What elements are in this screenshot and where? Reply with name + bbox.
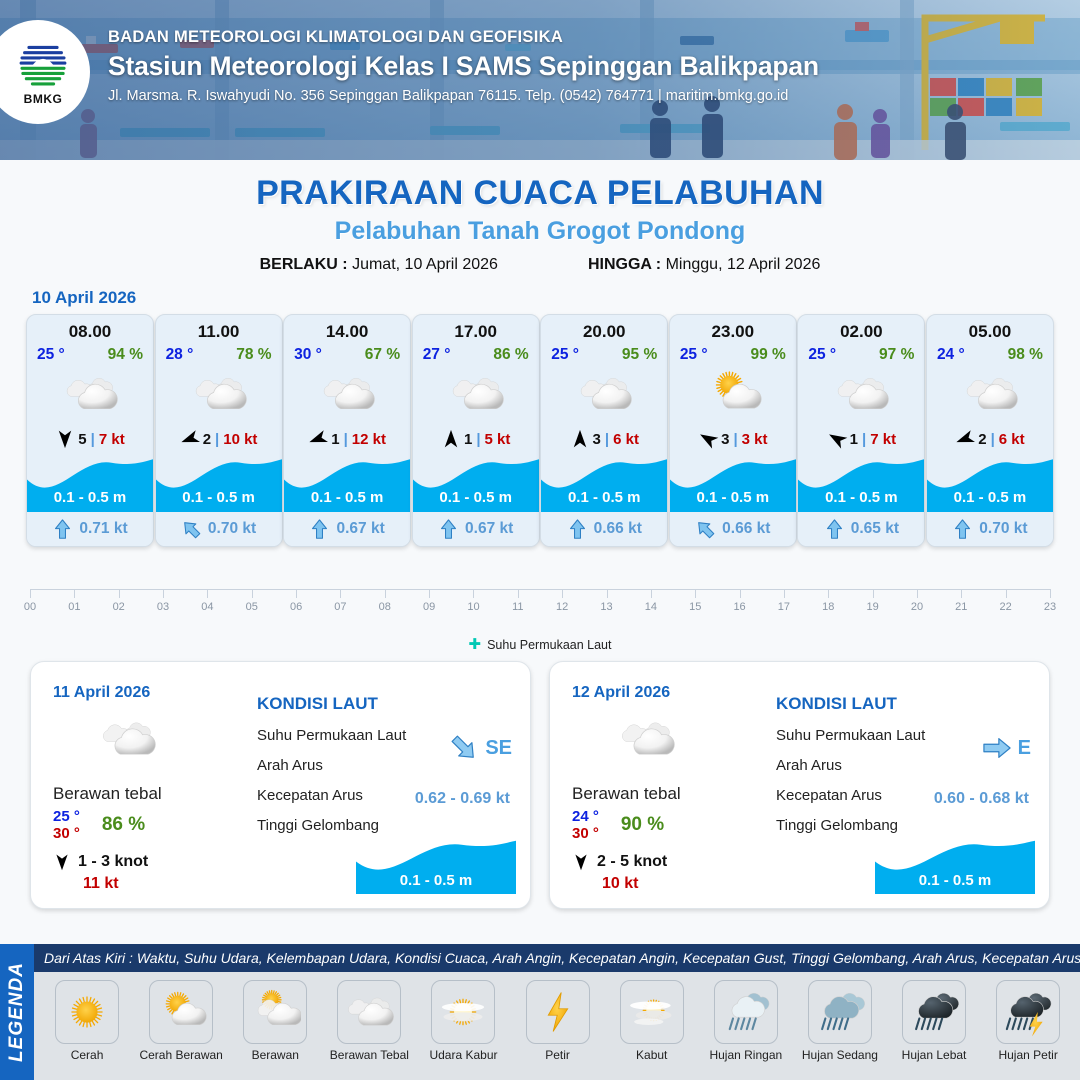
card-gust-speed: 5 kt	[485, 431, 511, 448]
card-wave-height: 0.1 - 0.5 m	[156, 489, 282, 506]
current-direction-arrow-icon	[309, 519, 330, 540]
axis-tick-label: 02	[113, 601, 125, 613]
axis-tick-label: 00	[24, 601, 36, 613]
panel-wave-height: 0.1 - 0.5 m	[356, 872, 516, 889]
forecast-card: 17.00 27 ° 86 %	[412, 314, 540, 547]
legend-item: Cerah	[41, 980, 133, 1062]
card-current-row: 0.70 kt	[927, 512, 1053, 546]
card-wave-height: 0.1 - 0.5 m	[541, 489, 667, 506]
legend-item-label: Hujan Petir	[982, 1048, 1074, 1062]
card-humidity: 97 %	[879, 346, 914, 364]
axis-tick-label: 08	[379, 601, 391, 613]
wind-direction-arrow-icon	[180, 429, 200, 449]
legend-side-bar: LEGENDA	[0, 944, 34, 1080]
card-wind-separator: |	[991, 431, 995, 448]
forecast-card: 11.00 28 ° 78 %	[155, 314, 283, 547]
card-wave-height: 0.1 - 0.5 m	[670, 489, 796, 506]
card-wind-separator: |	[91, 431, 95, 448]
card-humidity: 67 %	[365, 346, 400, 364]
legend-icon-cerah-berawan	[149, 980, 213, 1044]
current-direction-label: SE	[485, 737, 512, 760]
panel-left: 12 April 2026	[550, 662, 770, 908]
card-wind-speed: 3	[593, 431, 601, 448]
panel-temp-min: 25 °	[53, 808, 80, 825]
sea-row-wave-height: Tinggi Gelombang	[776, 817, 1031, 834]
axis-tick	[340, 589, 341, 598]
axis-tick	[1006, 589, 1007, 598]
card-time: 23.00	[670, 322, 796, 342]
card-current-speed: 0.67 kt	[336, 520, 384, 538]
axis-tick-label: 13	[600, 601, 612, 613]
axis-tick-label: 12	[556, 601, 568, 613]
legend-item: Berawan	[229, 980, 321, 1062]
card-wind-row: 2 | 10 kt	[156, 422, 282, 456]
card-weather-icon-cerah-berawan	[670, 366, 796, 422]
daily-forecast-panel: 12 April 2026	[549, 661, 1050, 909]
card-current-row: 0.71 kt	[27, 512, 153, 546]
axis-tick-label: 14	[645, 601, 657, 613]
card-wave-height: 0.1 - 0.5 m	[798, 489, 924, 506]
legend-item: Hujan Lebat	[888, 980, 980, 1062]
legend-body: Dari Atas Kiri : Waktu, Suhu Udara, Kele…	[34, 944, 1080, 1080]
forecast-card: 20.00 25 ° 95 %	[540, 314, 668, 547]
card-current-row: 0.67 kt	[413, 512, 539, 546]
panel-current-speed: 0.62 - 0.69 kt	[415, 790, 510, 808]
card-temp-humidity-row: 25 ° 95 %	[541, 342, 667, 364]
card-temperature: 25 °	[37, 346, 65, 364]
card-current-speed: 0.70 kt	[208, 520, 256, 538]
berlaku-group: BERLAKU : Jumat, 10 April 2026	[260, 256, 498, 274]
card-temp-humidity-row: 25 ° 99 %	[670, 342, 796, 364]
axis-tick-label: 22	[1000, 601, 1012, 613]
panel-date: 11 April 2026	[53, 684, 251, 702]
axis-tick	[30, 589, 31, 598]
card-temp-humidity-row: 25 ° 94 %	[27, 342, 153, 364]
panel-wave-height: 0.1 - 0.5 m	[875, 872, 1035, 889]
legend-item: Hujan Petir	[982, 980, 1074, 1062]
card-current-row: 0.65 kt	[798, 512, 924, 546]
panel-temp-column: 25 ° 30 °	[53, 808, 80, 843]
current-direction-arrow-icon	[952, 519, 973, 540]
card-temperature: 24 °	[937, 346, 965, 364]
chart-legend: ✚ Suhu Permukaan Laut	[30, 637, 1050, 652]
axis-tick	[828, 589, 829, 598]
legend-icon-hujan-sedang	[808, 980, 872, 1044]
card-wind-speed: 2	[203, 431, 211, 448]
panel-wind-row: 2 - 5 knot	[572, 853, 770, 871]
axis-tick-label: 21	[955, 601, 967, 613]
card-humidity: 86 %	[493, 346, 528, 364]
card-temp-humidity-row: 28 ° 78 %	[156, 342, 282, 364]
card-humidity: 98 %	[1008, 346, 1043, 364]
station-address: Jl. Marsma. R. Iswahyudi No. 356 Sepingg…	[108, 88, 988, 104]
card-current-row: 0.66 kt	[670, 512, 796, 546]
current-direction-arrow-icon	[567, 519, 588, 540]
card-temp-humidity-row: 27 ° 86 %	[413, 342, 539, 364]
card-temperature: 25 °	[551, 346, 579, 364]
axis-tick-label: 05	[246, 601, 258, 613]
card-wave-height: 0.1 - 0.5 m	[927, 489, 1053, 506]
panel-humidity: 90 %	[621, 814, 664, 836]
legend-item: Kabut	[606, 980, 698, 1062]
wind-direction-arrow-icon	[572, 853, 590, 871]
wind-direction-arrow-icon	[698, 429, 718, 449]
panel-temp-column: 24 ° 30 °	[572, 808, 599, 843]
legend-icon-berawan-tebal	[337, 980, 401, 1044]
card-wave-graphic: 0.1 - 0.5 m	[541, 456, 667, 512]
legend-item: Udara Kabur	[417, 980, 509, 1062]
card-wave-graphic: 0.1 - 0.5 m	[156, 456, 282, 512]
card-wave-height: 0.1 - 0.5 m	[27, 489, 153, 506]
current-direction-label: E	[1018, 737, 1031, 760]
card-weather-icon-berawan-tebal	[927, 366, 1053, 422]
legend-item-label: Hujan Sedang	[794, 1048, 886, 1062]
axis-tick	[873, 589, 874, 598]
hingga-label: HINGGA :	[588, 256, 661, 273]
panel-weather-icon-berawan-tebal	[53, 708, 251, 770]
card-weather-icon-berawan-tebal	[27, 366, 153, 422]
legend-icon-list: Cerah Cerah Berawan	[34, 972, 1080, 1062]
axis-tick	[518, 589, 519, 598]
axis-tick	[385, 589, 386, 598]
legend-section: LEGENDA Dari Atas Kiri : Waktu, Suhu Uda…	[0, 944, 1080, 1080]
axis-tick-label: 11	[512, 601, 523, 613]
panel-wind-range: 2 - 5 knot	[597, 853, 667, 871]
panel-wind-range: 1 - 3 knot	[78, 853, 148, 871]
panel-left: 11 April 2026	[31, 662, 251, 908]
axis-tick	[695, 589, 696, 598]
page-title: PRAKIRAAN CUACA PELABUHAN	[0, 174, 1080, 213]
wind-direction-arrow-icon	[441, 429, 461, 449]
card-current-row: 0.70 kt	[156, 512, 282, 546]
forecast-card: 02.00 25 ° 97 %	[797, 314, 925, 547]
card-current-speed: 0.65 kt	[851, 520, 899, 538]
card-wind-speed: 1	[850, 431, 858, 448]
legend-icon-udara-kabur	[431, 980, 495, 1044]
card-wave-height: 0.1 - 0.5 m	[413, 489, 539, 506]
panel-temp-humidity: 25 ° 30 ° 86 %	[53, 808, 251, 843]
card-wind-speed: 1	[464, 431, 472, 448]
card-weather-icon-berawan-tebal	[284, 366, 410, 422]
panel-wind-row: 1 - 3 knot	[53, 853, 251, 871]
current-direction-arrow-icon	[450, 736, 478, 760]
card-wind-row: 2 | 6 kt	[927, 422, 1053, 456]
legend-item-label: Hujan Lebat	[888, 1048, 980, 1062]
hingga-group: HINGGA : Minggu, 12 April 2026	[588, 256, 820, 274]
card-wave-graphic: 0.1 - 0.5 m	[413, 456, 539, 512]
legend-item: Cerah Berawan	[135, 980, 227, 1062]
card-temperature: 25 °	[680, 346, 708, 364]
wind-direction-arrow-icon	[570, 429, 590, 449]
card-temperature: 30 °	[294, 346, 322, 364]
card-humidity: 78 %	[236, 346, 271, 364]
card-humidity: 99 %	[750, 346, 785, 364]
axis-tick	[473, 589, 474, 598]
card-wind-row: 1 | 5 kt	[413, 422, 539, 456]
chart-legend-label: Suhu Permukaan Laut	[487, 638, 611, 652]
legend-icon-kabut	[620, 980, 684, 1044]
wind-direction-arrow-icon	[55, 429, 75, 449]
card-wind-separator: |	[605, 431, 609, 448]
card-wind-speed: 3	[721, 431, 729, 448]
wind-direction-arrow-icon	[53, 853, 71, 871]
wind-direction-arrow-icon	[955, 429, 975, 449]
panel-sea-conditions: KONDISI LAUT Suhu Permukaan Laut Arah Ar…	[770, 662, 1049, 908]
axis-tick	[207, 589, 208, 598]
forecast-card: 05.00 24 ° 98 %	[926, 314, 1054, 547]
panel-gust: 10 kt	[602, 875, 770, 893]
card-current-speed: 0.67 kt	[465, 520, 513, 538]
wind-direction-arrow-icon	[827, 429, 847, 449]
axis-tick	[917, 589, 918, 598]
card-wind-separator: |	[733, 431, 737, 448]
axis-tick	[296, 589, 297, 598]
berlaku-label: BERLAKU :	[260, 256, 348, 273]
panel-current-direction: E	[983, 736, 1031, 760]
legend-item-label: Udara Kabur	[417, 1048, 509, 1062]
panel-condition: Berawan tebal	[53, 784, 251, 804]
axis-tick-label: 06	[290, 601, 302, 613]
axis-tick	[607, 589, 608, 598]
card-weather-icon-berawan-tebal	[413, 366, 539, 422]
legend-icon-petir	[526, 980, 590, 1044]
axis-tick	[562, 589, 563, 598]
legend-icon-hujan-petir	[996, 980, 1060, 1044]
card-wind-row: 3 | 3 kt	[670, 422, 796, 456]
axis-tick-label: 17	[778, 601, 790, 613]
card-weather-icon-berawan-tebal	[156, 366, 282, 422]
panel-wave-graphic: 0.1 - 0.5 m	[356, 838, 516, 894]
legend-item: Berawan Tebal	[323, 980, 415, 1062]
card-wind-speed: 1	[331, 431, 339, 448]
card-gust-speed: 10 kt	[223, 431, 257, 448]
agency-name: BADAN METEOROLOGI KLIMATOLOGI DAN GEOFIS…	[108, 28, 988, 47]
axis-tick-label: 23	[1044, 601, 1056, 613]
legend-icon-berawan	[243, 980, 307, 1044]
card-time: 08.00	[27, 322, 153, 342]
card-temp-humidity-row: 24 ° 98 %	[927, 342, 1053, 364]
current-direction-arrow-icon	[695, 519, 716, 540]
hourly-forecast-row: 08.00 25 ° 94 %	[0, 314, 1080, 547]
page-header: BMKG BADAN METEOROLOGI KLIMATOLOGI DAN G…	[0, 0, 1080, 160]
panel-humidity: 86 %	[102, 814, 145, 836]
legend-description-bar: Dari Atas Kiri : Waktu, Suhu Udara, Kele…	[34, 944, 1080, 972]
sea-conditions-title: KONDISI LAUT	[257, 694, 512, 714]
card-gust-speed: 6 kt	[999, 431, 1025, 448]
legend-marker-icon: ✚	[469, 637, 482, 652]
legend-icon-hujan-lebat	[902, 980, 966, 1044]
axis-tick	[119, 589, 120, 598]
panel-temp-humidity: 24 ° 30 ° 90 %	[572, 808, 770, 843]
panel-current-direction: SE	[450, 736, 512, 760]
forecast-day-label: 10 April 2026	[32, 288, 1080, 308]
card-current-speed: 0.66 kt	[594, 520, 642, 538]
card-wave-height: 0.1 - 0.5 m	[284, 489, 410, 506]
sea-row-wave-height: Tinggi Gelombang	[257, 817, 512, 834]
card-wave-graphic: 0.1 - 0.5 m	[798, 456, 924, 512]
axis-tick	[74, 589, 75, 598]
panel-date: 12 April 2026	[572, 684, 770, 702]
axis-tick	[252, 589, 253, 598]
axis-tick	[163, 589, 164, 598]
bmkg-logo-text: BMKG	[24, 92, 63, 106]
card-time: 05.00	[927, 322, 1053, 342]
panel-temp-max: 30 °	[572, 825, 599, 842]
forecast-card: 23.00 25 ° 99 %	[669, 314, 797, 547]
daily-forecast-panel: 11 April 2026	[30, 661, 531, 909]
sea-conditions-title: KONDISI LAUT	[776, 694, 1031, 714]
panel-sea-conditions: KONDISI LAUT Suhu Permukaan Laut Arah Ar…	[251, 662, 530, 908]
axis-tick	[961, 589, 962, 598]
legend-item-label: Cerah	[41, 1048, 133, 1062]
panel-temp-min: 24 °	[572, 808, 599, 825]
card-weather-icon-berawan-tebal	[798, 366, 924, 422]
card-current-speed: 0.66 kt	[722, 520, 770, 538]
card-current-row: 0.67 kt	[284, 512, 410, 546]
card-current-row: 0.66 kt	[541, 512, 667, 546]
legend-icon-hujan-ringan	[714, 980, 778, 1044]
bmkg-logo-icon	[15, 39, 71, 91]
card-wind-row: 5 | 7 kt	[27, 422, 153, 456]
card-wave-graphic: 0.1 - 0.5 m	[927, 456, 1053, 512]
sst-chart: 0001020304050607080910111213141516171819…	[30, 589, 1050, 649]
card-wave-graphic: 0.1 - 0.5 m	[284, 456, 410, 512]
axis-tick-label: 09	[423, 601, 435, 613]
card-time: 14.00	[284, 322, 410, 342]
card-wind-row: 1 | 7 kt	[798, 422, 924, 456]
hingga-value: Minggu, 12 April 2026	[666, 256, 821, 273]
wind-direction-arrow-icon	[308, 429, 328, 449]
legend-description-text: Dari Atas Kiri : Waktu, Suhu Udara, Kele…	[44, 950, 1080, 966]
card-wind-separator: |	[215, 431, 219, 448]
card-temperature: 25 °	[808, 346, 836, 364]
card-current-speed: 0.71 kt	[79, 520, 127, 538]
card-wind-separator: |	[344, 431, 348, 448]
panel-gust: 11 kt	[83, 875, 251, 893]
axis-tick-label: 18	[822, 601, 834, 613]
card-gust-speed: 12 kt	[352, 431, 386, 448]
card-wind-speed: 2	[978, 431, 986, 448]
card-humidity: 94 %	[108, 346, 143, 364]
axis-tick-label: 07	[334, 601, 346, 613]
validity-range: BERLAKU : Jumat, 10 April 2026 HINGGA : …	[0, 256, 1080, 274]
card-temperature: 28 °	[166, 346, 194, 364]
card-time: 11.00	[156, 322, 282, 342]
card-wind-row: 1 | 12 kt	[284, 422, 410, 456]
title-block: PRAKIRAAN CUACA PELABUHAN Pelabuhan Tana…	[0, 174, 1080, 274]
legend-item-label: Kabut	[606, 1048, 698, 1062]
legend-item: Petir	[512, 980, 604, 1062]
panel-temp-max: 30 °	[53, 825, 80, 842]
page-subtitle: Pelabuhan Tanah Grogot Pondong	[0, 217, 1080, 246]
axis-tick-label: 16	[733, 601, 745, 613]
chart-x-axis: 0001020304050607080910111213141516171819…	[30, 589, 1050, 623]
legend-item: Hujan Ringan	[700, 980, 792, 1062]
axis-tick	[784, 589, 785, 598]
axis-tick-label: 01	[68, 601, 80, 613]
card-wind-separator: |	[476, 431, 480, 448]
card-weather-icon-berawan-tebal	[541, 366, 667, 422]
current-direction-arrow-icon	[52, 519, 73, 540]
panel-current-speed: 0.60 - 0.68 kt	[934, 790, 1029, 808]
card-wave-graphic: 0.1 - 0.5 m	[670, 456, 796, 512]
card-current-speed: 0.70 kt	[979, 520, 1027, 538]
card-time: 17.00	[413, 322, 539, 342]
card-wave-graphic: 0.1 - 0.5 m	[27, 456, 153, 512]
forecast-card: 08.00 25 ° 94 %	[26, 314, 154, 547]
card-temp-humidity-row: 30 ° 67 %	[284, 342, 410, 364]
legend-item-label: Petir	[512, 1048, 604, 1062]
current-direction-arrow-icon	[824, 519, 845, 540]
card-wind-row: 3 | 6 kt	[541, 422, 667, 456]
legend-side-label: LEGENDA	[6, 962, 28, 1062]
axis-tick-label: 10	[467, 601, 479, 613]
card-gust-speed: 3 kt	[742, 431, 768, 448]
card-temp-humidity-row: 25 ° 97 %	[798, 342, 924, 364]
card-wind-separator: |	[862, 431, 866, 448]
card-humidity: 95 %	[622, 346, 657, 364]
current-direction-arrow-icon	[438, 519, 459, 540]
current-direction-arrow-icon	[983, 736, 1011, 760]
axis-tick	[1050, 589, 1051, 598]
panel-wave-graphic: 0.1 - 0.5 m	[875, 838, 1035, 894]
axis-tick-label: 03	[157, 601, 169, 613]
axis-tick	[429, 589, 430, 598]
axis-tick-label: 20	[911, 601, 923, 613]
berlaku-value: Jumat, 10 April 2026	[352, 256, 498, 273]
card-time: 20.00	[541, 322, 667, 342]
panel-weather-icon-berawan-tebal	[572, 708, 770, 770]
card-gust-speed: 6 kt	[613, 431, 639, 448]
axis-tick	[740, 589, 741, 598]
card-gust-speed: 7 kt	[99, 431, 125, 448]
card-temperature: 27 °	[423, 346, 451, 364]
legend-item-label: Hujan Ringan	[700, 1048, 792, 1062]
legend-item-label: Berawan	[229, 1048, 321, 1062]
axis-tick	[651, 589, 652, 598]
legend-item-label: Cerah Berawan	[135, 1048, 227, 1062]
forecast-card: 14.00 30 ° 67 %	[283, 314, 411, 547]
current-direction-arrow-icon	[181, 519, 202, 540]
daily-forecast-panels: 11 April 2026	[0, 661, 1080, 909]
axis-tick-label: 19	[866, 601, 878, 613]
axis-tick-label: 15	[689, 601, 701, 613]
panel-condition: Berawan tebal	[572, 784, 770, 804]
axis-tick-label: 04	[201, 601, 213, 613]
card-time: 02.00	[798, 322, 924, 342]
legend-item-label: Berawan Tebal	[323, 1048, 415, 1062]
card-gust-speed: 7 kt	[870, 431, 896, 448]
card-wind-speed: 5	[78, 431, 86, 448]
legend-item: Hujan Sedang	[794, 980, 886, 1062]
legend-icon-cerah	[55, 980, 119, 1044]
station-name: Stasiun Meteorologi Kelas I SAMS Sepingg…	[108, 51, 988, 82]
axis-line	[30, 589, 1050, 590]
